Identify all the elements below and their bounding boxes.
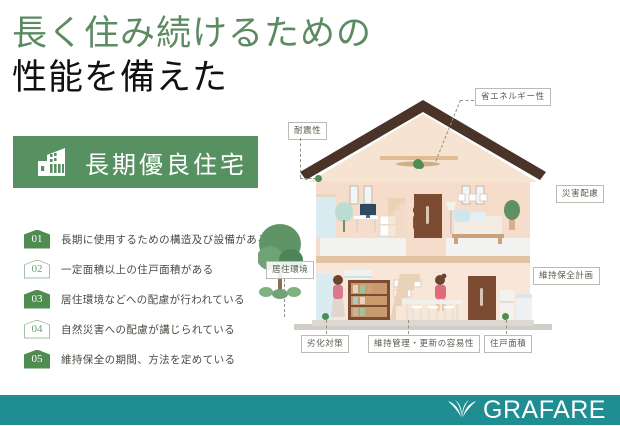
list-item: 01 長期に使用するための構造及び設備がある xyxy=(24,228,284,250)
requirement-text: 長期に使用するための構造及び設備がある xyxy=(61,232,268,247)
leader-line-quake-h xyxy=(300,178,316,179)
callout-upkeep-ease: 維持管理・更新の容易性 xyxy=(368,335,480,353)
requirement-text: 自然災害への配慮が講じられている xyxy=(61,322,235,337)
leaf-wing-icon xyxy=(447,399,477,421)
badge-number: 03 xyxy=(32,290,43,309)
leader-line-floor-area xyxy=(506,320,507,334)
anchor-dot-degradation xyxy=(322,313,329,320)
anchor-dot-quake xyxy=(315,175,322,182)
badge-number: 04 xyxy=(32,320,43,339)
advert-canvas: 長く住み続けるための 性能を備えた 長期優良住宅 xyxy=(0,0,620,425)
badge-number: 05 xyxy=(32,350,43,369)
anchor-dot-energy xyxy=(417,162,424,169)
callout-floor-area: 住戸面積 xyxy=(484,335,532,353)
building-icon xyxy=(35,145,73,179)
badge-03: 03 xyxy=(24,290,50,309)
leader-line-quake xyxy=(300,138,301,178)
callout-degradation-measures: 劣化対策 xyxy=(301,335,349,353)
leader-line-upkeep xyxy=(408,320,409,334)
list-item: 02 一定面積以上の住戸面積がある xyxy=(24,258,284,280)
headline-line-1: 長く住み続けるための xyxy=(12,12,312,56)
badge-04: 04 xyxy=(24,320,50,339)
list-item: 04 自然災害への配慮が講じられている xyxy=(24,318,284,340)
callout-maintenance-plan: 維持保全計画 xyxy=(533,267,600,285)
brand-name: GRAFARE xyxy=(483,396,606,425)
leader-line-living-env xyxy=(284,279,285,317)
house-cutaway-illustration xyxy=(294,98,552,348)
requirement-text: 居住環境などへの配慮が行われている xyxy=(61,292,245,307)
certification-banner: 長期優良住宅 xyxy=(13,136,258,188)
leader-line-energy xyxy=(460,100,474,101)
callout-disaster-consideration: 災害配慮 xyxy=(556,185,604,203)
badge-number: 01 xyxy=(32,230,43,249)
leader-line-degradation xyxy=(326,320,327,334)
list-item: 05 維持保全の期間、方法を定めている xyxy=(24,348,284,370)
list-item: 03 居住環境などへの配慮が行われている xyxy=(24,288,284,310)
callout-living-environment: 居住環境 xyxy=(266,261,314,279)
requirement-text: 維持保全の期間、方法を定めている xyxy=(61,352,235,367)
badge-01: 01 xyxy=(24,230,50,249)
badge-05: 05 xyxy=(24,350,50,369)
callout-energy-saving: 省エネルギー性 xyxy=(475,88,551,106)
callout-earthquake-resistance: 耐震性 xyxy=(288,122,327,140)
banner-label: 長期優良住宅 xyxy=(85,145,247,180)
badge-02: 02 xyxy=(24,260,50,279)
anchor-dot-floor-area xyxy=(502,313,509,320)
house-illustration-block: 省エネルギー性 耐震性 災害配慮 維持保全計画 居住環境 劣化対策 維持管理・更… xyxy=(258,70,620,390)
badge-number: 02 xyxy=(32,260,43,279)
requirement-list: 01 長期に使用するための構造及び設備がある 02 一定面積以上の住戸面積がある… xyxy=(24,228,284,378)
requirement-text: 一定面積以上の住戸面積がある xyxy=(61,262,214,277)
brand-footer: GRAFARE xyxy=(0,395,620,425)
